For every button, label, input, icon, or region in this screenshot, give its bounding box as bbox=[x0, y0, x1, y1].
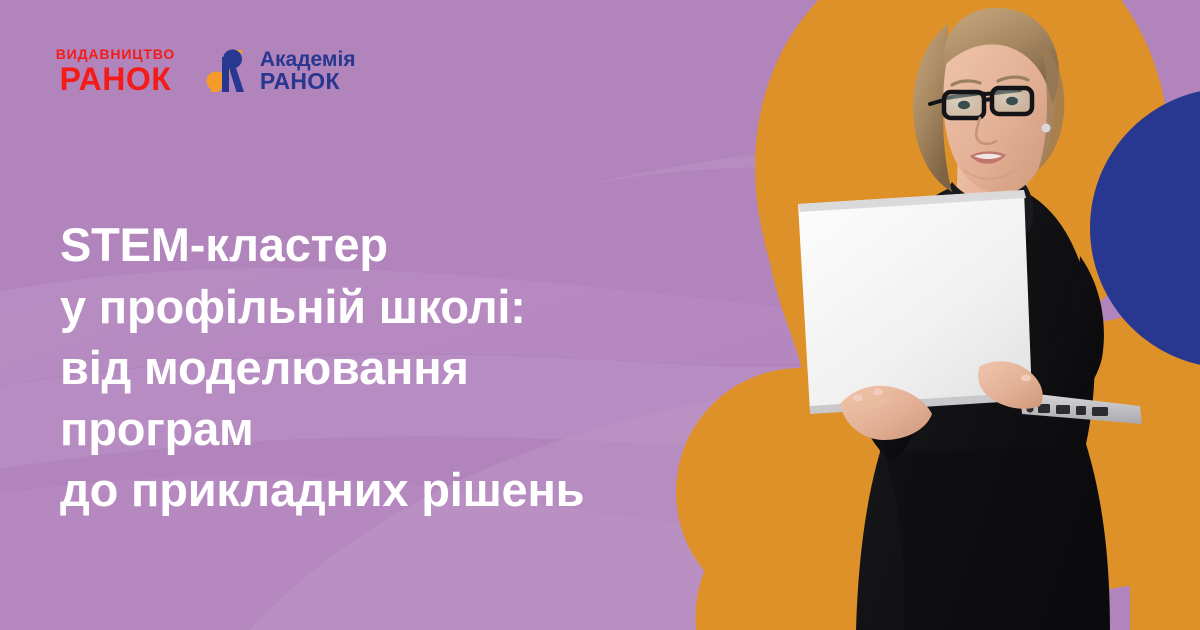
headline: STEM-кластер у профільній школі: від мод… bbox=[60, 214, 584, 519]
akademia-ranok-mark-icon bbox=[205, 48, 251, 94]
headline-line-4: програм bbox=[60, 398, 584, 459]
academy-wordmark: Академія РАНОК bbox=[260, 49, 356, 94]
academy-top-word: Академія bbox=[260, 49, 356, 70]
logo-bar: ВИДАВНИЦТВО РАНОК Академія РАНОК bbox=[58, 48, 356, 95]
akademia-ranok-logo[interactable]: Академія РАНОК bbox=[205, 48, 356, 94]
headline-line-3: від моделювання bbox=[60, 337, 584, 398]
headline-line-1: STEM-кластер bbox=[60, 214, 584, 275]
academy-main-word: РАНОК bbox=[260, 70, 356, 93]
vydavnytstvo-ranok-logo[interactable]: ВИДАВНИЦТВО РАНОК bbox=[58, 48, 173, 95]
headline-line-5: до прикладних рішень bbox=[60, 459, 584, 520]
publisher-top-word: ВИДАВНИЦТВО bbox=[56, 48, 175, 62]
headline-line-2: у профільній школі: bbox=[60, 276, 584, 337]
promo-banner: ВИДАВНИЦТВО РАНОК Академія РАНОК STEM-кл… bbox=[0, 0, 1200, 630]
orange-circle-bottom bbox=[676, 368, 924, 616]
publisher-main-word: РАНОК bbox=[60, 63, 172, 95]
